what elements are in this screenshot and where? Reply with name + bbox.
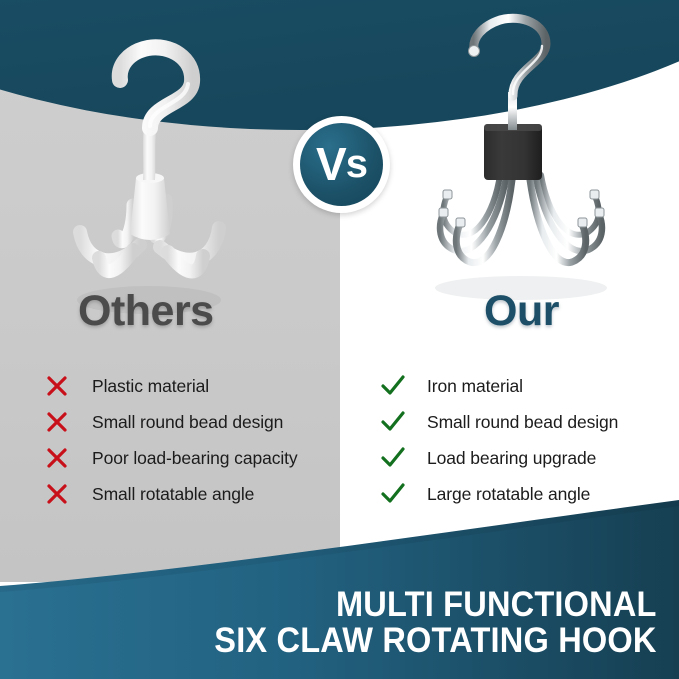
chrome-six-claw-rotating-hook-image <box>0 0 679 679</box>
list-item-label: Small rotatable angle <box>92 484 254 505</box>
others-feature-list: Plastic material Small round bead design… <box>46 368 346 512</box>
list-item: Plastic material <box>46 368 346 404</box>
infographic-canvas: Vs Others Our Plastic material Small rou… <box>0 0 679 679</box>
list-item: Poor load-bearing capacity <box>46 440 346 476</box>
list-item-label: Small round bead design <box>427 412 618 433</box>
others-heading: Others <box>78 287 214 336</box>
list-item-label: Large rotatable angle <box>427 484 590 505</box>
our-heading: Our <box>484 287 559 336</box>
list-item: Small rotatable angle <box>46 476 346 512</box>
cross-icon <box>46 483 92 505</box>
list-item-label: Plastic material <box>92 376 209 397</box>
vs-badge-v: V <box>316 141 346 187</box>
list-item-label: Iron material <box>427 376 523 397</box>
banner-title-line2: SIX CLAW ROTATING HOOK <box>215 623 657 659</box>
list-item-label: Small round bead design <box>92 412 283 433</box>
banner-title: MULTI FUNCTIONAL SIX CLAW ROTATING HOOK <box>181 587 657 659</box>
vs-badge-label: Vs <box>293 116 390 213</box>
check-icon <box>381 447 427 469</box>
cross-icon <box>46 447 92 469</box>
list-item: Small round bead design <box>381 404 671 440</box>
check-icon <box>381 411 427 433</box>
our-feature-list: Iron material Small round bead design Lo… <box>381 368 671 512</box>
vs-badge-s: s <box>346 144 367 184</box>
list-item: Small round bead design <box>46 404 346 440</box>
list-item-label: Poor load-bearing capacity <box>92 448 298 469</box>
list-item: Load bearing upgrade <box>381 440 671 476</box>
check-icon <box>381 375 427 397</box>
list-item: Iron material <box>381 368 671 404</box>
list-item: Large rotatable angle <box>381 476 671 512</box>
cross-icon <box>46 411 92 433</box>
list-item-label: Load bearing upgrade <box>427 448 596 469</box>
cross-icon <box>46 375 92 397</box>
vs-badge: Vs <box>293 116 390 213</box>
check-icon <box>381 483 427 505</box>
banner-title-line1: MULTI FUNCTIONAL <box>215 587 657 623</box>
